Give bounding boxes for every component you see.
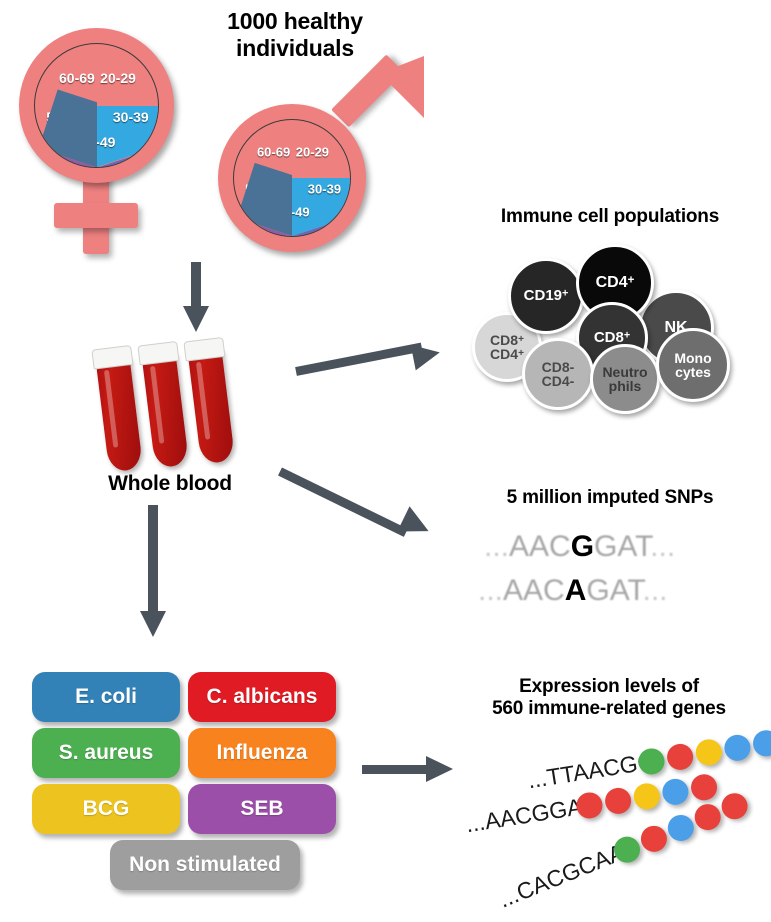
cohort-title-line1: 1000 healthy: [170, 8, 420, 35]
pie-slice-label: 60-69: [59, 70, 95, 86]
gene-bead: [665, 742, 695, 772]
snp-before: AAC: [503, 574, 565, 607]
stimulus-c-albicans[interactable]: C. albicans: [188, 672, 336, 722]
arrow-shaft: [148, 505, 158, 617]
snp-sequences-group: ...AACGGAT... ...AACAGAT...: [470, 530, 760, 620]
tube-body: [142, 353, 189, 468]
snp-variant: G: [571, 530, 594, 563]
blood-tube: [186, 337, 242, 471]
snp-prefix: ...: [478, 574, 503, 607]
stimulus-label: C. albicans: [207, 685, 318, 709]
pie-slice-label: 20-29: [100, 70, 136, 86]
immune-cells-group: CD8+CD4+ NK CD19+ CD4+ CD8+ CD8-CD4- Neu…: [460, 240, 760, 420]
expression-title-line2: 560 immune-related genes: [450, 698, 768, 720]
female-symbol: 20-2930-3940-4950-5960-69: [10, 14, 190, 254]
cell-neutrophils: Neutrophils: [590, 344, 660, 414]
arrow-shaft: [362, 765, 432, 774]
snp-suffix: ...: [643, 574, 668, 607]
tube-body: [188, 349, 235, 464]
gene-bead: [694, 737, 724, 767]
female-age-pie: 20-2930-3940-4950-5960-69: [34, 43, 159, 168]
stimulus-non-stimulated[interactable]: Non stimulated: [110, 840, 300, 890]
stimulus-label: BCG: [83, 797, 130, 821]
cell-label: Monocytes: [674, 351, 711, 380]
stimulus-label: S. aureus: [59, 741, 154, 765]
arrow-head: [183, 306, 209, 332]
arrow-shaft: [191, 262, 201, 312]
cell-label: CD19+: [524, 288, 569, 303]
stimulus-influenza[interactable]: Influenza: [188, 728, 336, 778]
gene-sequence: ...CACGCAA: [495, 839, 628, 914]
arrow-blood-to-snps: [280, 455, 450, 555]
arrow-blood-to-immune: [296, 330, 456, 380]
pie-slice-label: 30-39: [308, 182, 341, 197]
immune-title: Immune cell populations: [455, 206, 765, 228]
expression-title-line1: Expression levels of: [450, 676, 768, 698]
arrow-head: [397, 506, 434, 543]
snp-sequence-row: ...AACAGAT...: [478, 574, 668, 608]
stimulus-seb[interactable]: SEB: [188, 784, 336, 834]
stimulus-s-aureus[interactable]: S. aureus: [32, 728, 180, 778]
pie-slice-label: 30-39: [113, 109, 149, 125]
gene-strands-group: ...TTAACGG ...AACGGAT ...CACGCAA: [448, 728, 771, 918]
male-age-pie: 20-2930-3940-4950-5960-69: [233, 119, 351, 237]
gene-bead: [718, 789, 752, 823]
gene-bead: [664, 811, 698, 845]
snp-prefix: ...: [484, 530, 509, 563]
male-arrow-shaft: [331, 55, 404, 128]
gene-bead: [637, 822, 671, 856]
cohort-title: 1000 healthy individuals: [170, 8, 420, 62]
gene-bead: [691, 800, 725, 834]
stimulus-e-coli[interactable]: E. coli: [32, 672, 180, 722]
gene-bead: [751, 728, 771, 758]
stimulus-label: Influenza: [216, 741, 307, 765]
cell-label: Neutrophils: [602, 365, 647, 394]
expression-title: Expression levels of 560 immune-related …: [450, 676, 768, 721]
cell-label: CD4+: [596, 275, 635, 291]
snp-after: GAT: [586, 574, 642, 607]
snp-variant: A: [565, 574, 587, 607]
arrow-head: [140, 611, 166, 637]
gene-bead: [603, 786, 633, 816]
cell-cd19: CD19+: [508, 258, 584, 334]
pie-slice-label: 20-29: [296, 145, 329, 160]
snp-sequence-row: ...AACGGAT...: [484, 530, 675, 564]
arrow-cohort-to-blood: [183, 262, 209, 332]
stimuli-group: E. coli C. albicans S. aureus Influenza …: [32, 672, 352, 902]
pie-slice-label: 60-69: [257, 145, 290, 160]
stimulus-label: Non stimulated: [129, 853, 281, 877]
cell-monocytes: Monocytes: [656, 328, 730, 402]
snps-title: 5 million imputed SNPs: [455, 487, 765, 509]
gene-sequence: ...AACGGAT: [464, 791, 597, 838]
cell-label: CD8-CD4-: [542, 360, 575, 389]
arrow-shaft: [295, 343, 422, 376]
snp-after: GAT: [594, 530, 650, 563]
arrow-shaft: [278, 467, 408, 536]
blood-tubes-group: [108, 340, 278, 480]
stimulus-label: SEB: [240, 797, 283, 821]
snp-before: AAC: [509, 530, 571, 563]
tube-body: [96, 357, 143, 472]
stimulus-label: E. coli: [75, 685, 137, 709]
figure-canvas: 1000 healthy individuals 20-2930-3940-49…: [0, 0, 771, 922]
arrow-head: [411, 340, 442, 371]
cell-label: CD8+CD4+: [490, 333, 524, 362]
gene-bead: [632, 781, 662, 811]
cell-cd8-cd4-neg: CD8-CD4-: [522, 338, 594, 410]
female-stem-horizontal: [54, 203, 138, 228]
snp-suffix: ...: [650, 530, 675, 563]
whole-blood-label: Whole blood: [60, 472, 280, 497]
stimulus-bcg[interactable]: BCG: [32, 784, 180, 834]
gene-bead: [661, 777, 691, 807]
gene-bead: [723, 733, 753, 763]
arrow-blood-to-stimuli: [140, 505, 166, 645]
male-symbol: 20-2930-3940-4950-5960-69: [212, 62, 422, 252]
